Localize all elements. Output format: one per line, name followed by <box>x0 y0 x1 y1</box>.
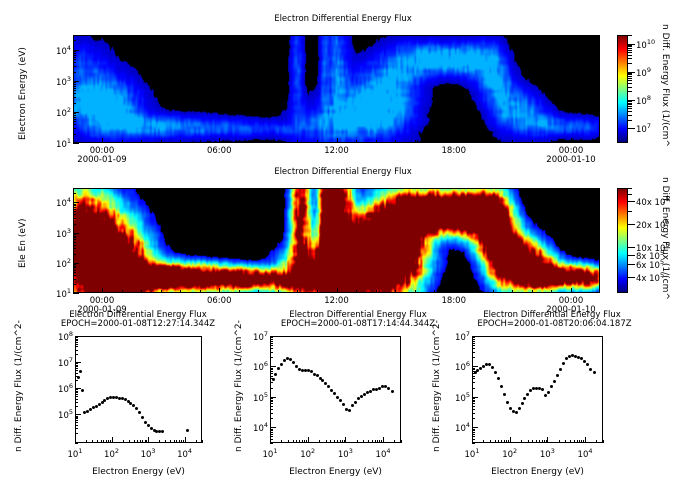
y-minor-tick <box>75 373 78 374</box>
x-minor-tick <box>319 440 320 443</box>
y-minor-tick <box>472 418 475 419</box>
y-minor-tick <box>73 266 76 267</box>
colorbar-minor-tick <box>628 48 632 49</box>
x-minor-tick <box>288 440 289 443</box>
colorbar-tick-label: 107 <box>636 122 651 135</box>
y-minor-tick <box>75 350 78 351</box>
x-minor-tick <box>134 440 135 443</box>
y-minor-tick <box>75 420 78 421</box>
y-minor-tick <box>472 343 475 344</box>
data-point <box>336 396 339 399</box>
colorbar-minor-tick <box>628 106 632 107</box>
y-minor-tick <box>73 279 76 280</box>
y-minor-tick <box>75 365 78 366</box>
colorbar-minor-tick <box>628 111 632 112</box>
panel-middle-ylabel: Ele En (eV) <box>18 218 28 268</box>
y-minor-tick <box>75 402 78 403</box>
y-minor-tick <box>73 88 76 89</box>
y-minor-tick <box>472 376 475 377</box>
x-minor-tick <box>110 440 111 443</box>
x-minor-tick <box>340 440 341 443</box>
x-minor-tick <box>137 440 138 443</box>
x-minor-tick <box>483 440 484 443</box>
x-tick-mark <box>510 437 511 443</box>
y-minor-tick <box>75 354 78 355</box>
y-minor-tick <box>472 348 475 349</box>
data-point <box>562 362 565 365</box>
y-minor-tick <box>472 368 475 369</box>
panel-middle-title: Electron Differential Energy Flux <box>153 167 533 177</box>
data-point <box>280 363 283 366</box>
data-point <box>391 390 394 393</box>
x-minor-tick <box>532 440 533 443</box>
x-tick-label: 102 <box>496 447 524 460</box>
y-minor-tick <box>472 398 475 399</box>
y-minor-tick <box>472 382 475 383</box>
x-minor-tick <box>337 440 338 443</box>
data-point <box>333 392 336 395</box>
y-tick-label: 105 <box>448 391 470 404</box>
y-minor-tick <box>73 236 76 237</box>
data-point <box>559 368 562 371</box>
colorbar-minor-tick <box>628 108 632 109</box>
x-minor-tick <box>170 440 171 443</box>
data-point <box>494 371 497 374</box>
y-tick-label: 102 <box>49 106 71 119</box>
data-point <box>135 407 138 410</box>
y-minor-tick <box>73 239 76 240</box>
x-minor-tick <box>108 440 109 443</box>
x-tick-mark <box>547 437 548 443</box>
x-minor-tick <box>337 140 338 143</box>
data-point <box>81 389 84 392</box>
colorbar-tick-mark <box>628 247 635 248</box>
x-tick-mark <box>585 437 586 443</box>
y-minor-tick <box>75 428 78 429</box>
y-tick-label: 106 <box>246 360 268 373</box>
x-minor-tick <box>356 290 357 293</box>
colorbar-minor-tick <box>628 35 632 36</box>
x-tick-label: 104 <box>571 447 599 460</box>
x-minor-tick <box>161 290 162 293</box>
colorbar-minor-tick <box>628 194 632 195</box>
panel-spectrum-1-xlabel: Electron Energy (eV) <box>75 467 202 477</box>
y-minor-tick <box>270 432 273 433</box>
colorbar-minor-tick <box>628 83 632 84</box>
y-minor-tick <box>472 388 475 389</box>
colorbar-tick-mark <box>628 264 635 265</box>
y-minor-tick <box>73 205 76 206</box>
y-minor-tick <box>73 103 76 104</box>
colorbar-tick-mark <box>628 277 635 278</box>
x-minor-tick <box>159 440 160 443</box>
colorbar-minor-tick <box>628 104 632 105</box>
x-minor-tick <box>368 440 369 443</box>
y-minor-tick <box>75 416 78 417</box>
data-point <box>586 363 589 366</box>
x-minor-tick <box>571 140 572 143</box>
y-minor-tick <box>472 339 475 340</box>
x-minor-tick <box>122 140 123 143</box>
x-minor-tick <box>559 440 560 443</box>
x-minor-tick <box>356 140 357 143</box>
y-minor-tick <box>75 418 78 419</box>
x-minor-tick <box>394 440 395 443</box>
y-minor-tick <box>472 406 475 407</box>
y-minor-tick <box>75 339 78 340</box>
y-minor-tick <box>75 337 78 338</box>
y-minor-tick <box>73 193 76 194</box>
x-minor-tick <box>334 440 335 443</box>
y-minor-tick <box>270 398 273 399</box>
y-minor-tick <box>75 363 78 364</box>
data-point <box>556 374 559 377</box>
x-minor-tick <box>181 440 182 443</box>
y-minor-tick <box>73 267 76 268</box>
data-point <box>354 401 357 404</box>
x-tick-mark <box>383 437 384 443</box>
panel-top-title: Electron Differential Energy Flux <box>153 14 533 24</box>
y-minor-tick <box>75 346 78 347</box>
y-minor-tick <box>270 348 273 349</box>
y-minor-tick <box>270 341 273 342</box>
panel-spectrum-2-plot[interactable] <box>270 336 401 443</box>
data-point <box>541 388 544 391</box>
y-minor-tick <box>73 214 76 215</box>
x-minor-tick <box>532 290 533 293</box>
x-minor-tick <box>536 440 537 443</box>
x-minor-tick <box>579 440 580 443</box>
panel-top-plot[interactable] <box>73 35 600 143</box>
x-minor-tick <box>293 440 294 443</box>
x-minor-tick <box>101 440 102 443</box>
x-tick-label: 104 <box>369 447 397 460</box>
x-minor-tick <box>281 440 282 443</box>
y-minor-tick <box>270 403 273 404</box>
y-minor-tick <box>270 343 273 344</box>
y-minor-tick <box>73 53 76 54</box>
y-minor-tick <box>73 134 76 135</box>
x-minor-tick <box>344 440 345 443</box>
panel-middle-colorbar[interactable] <box>617 188 628 293</box>
colorbar-minor-tick <box>628 45 632 46</box>
colorbar-minor-tick <box>628 55 632 56</box>
y-minor-tick <box>75 392 78 393</box>
y-tick-label: 108 <box>51 330 73 343</box>
x-minor-tick <box>544 440 545 443</box>
y-minor-tick <box>73 124 76 125</box>
y-minor-tick <box>472 434 475 435</box>
y-minor-tick <box>472 430 475 431</box>
x-minor-tick <box>278 140 279 143</box>
panel-middle-colorbar-label: n Diff. Energy Flux (1/(cm^ <box>660 177 670 300</box>
x-minor-tick <box>473 290 474 293</box>
data-point <box>277 367 280 370</box>
x-minor-tick <box>219 140 220 143</box>
y-minor-tick <box>73 84 76 85</box>
y-minor-tick <box>472 409 475 410</box>
y-tick-label: 106 <box>51 382 73 395</box>
x-minor-tick <box>296 440 297 443</box>
y-minor-tick <box>75 443 78 444</box>
y-minor-tick <box>73 72 76 73</box>
x-minor-tick <box>375 440 376 443</box>
x-minor-tick <box>570 440 571 443</box>
y-minor-tick <box>270 443 273 444</box>
x-minor-tick <box>302 440 303 443</box>
data-point <box>141 416 144 419</box>
x-minor-tick <box>179 440 180 443</box>
x-minor-tick <box>92 440 93 443</box>
colorbar-minor-tick <box>628 115 632 116</box>
y-minor-tick <box>73 57 76 58</box>
x-tick-mark <box>345 437 346 443</box>
y-minor-tick <box>75 370 78 371</box>
data-point <box>500 385 503 388</box>
data-point <box>348 409 351 412</box>
y-tick-mark <box>73 293 79 294</box>
x-minor-tick <box>490 440 491 443</box>
y-tick-label: 107 <box>51 356 73 369</box>
data-point <box>550 385 553 388</box>
data-point <box>342 403 345 406</box>
y-minor-tick <box>472 371 475 372</box>
x-tick-label: 101 <box>458 447 486 460</box>
x-minor-tick <box>102 140 103 143</box>
y-minor-tick <box>73 209 76 210</box>
x-minor-tick <box>102 290 103 293</box>
x-minor-tick <box>86 440 87 443</box>
x-minor-tick <box>415 140 416 143</box>
x-minor-tick <box>342 440 343 443</box>
x-minor-tick <box>583 440 584 443</box>
colorbar-tick-mark <box>628 128 635 129</box>
y-minor-tick <box>75 380 78 381</box>
panel-spectrum-2-xlabel: Electron Energy (eV) <box>270 467 401 477</box>
y-minor-tick <box>75 342 78 343</box>
x-minor-tick <box>571 290 572 293</box>
panel-spectrum-3-xlabel: Electron Energy (eV) <box>472 467 603 477</box>
y-minor-tick <box>73 97 76 98</box>
x-minor-tick <box>577 440 578 443</box>
y-tick-label: 102 <box>49 257 71 270</box>
data-point <box>79 370 82 373</box>
x-minor-tick <box>337 290 338 293</box>
y-minor-tick <box>75 396 78 397</box>
panel-spectrum-3-plot[interactable] <box>472 336 603 443</box>
x-tick-mark <box>112 437 113 443</box>
colorbar-minor-tick <box>628 63 632 64</box>
y-minor-tick <box>73 188 76 189</box>
x-minor-tick <box>532 140 533 143</box>
y-tick-label: 107 <box>246 330 268 343</box>
data-point <box>161 430 164 433</box>
y-minor-tick <box>270 406 273 407</box>
y-minor-tick <box>75 340 78 341</box>
y-minor-tick <box>472 401 475 402</box>
x-minor-tick <box>306 440 307 443</box>
panel-top-ylabel: Electron Energy (eV) <box>18 47 28 140</box>
y-minor-tick <box>75 406 78 407</box>
y-minor-tick <box>73 40 76 41</box>
x-minor-tick <box>504 440 505 443</box>
y-minor-tick <box>73 55 76 56</box>
data-point <box>144 421 147 424</box>
y-minor-tick <box>472 341 475 342</box>
data-point <box>553 380 556 383</box>
data-point <box>339 399 342 402</box>
y-tick-label: 103 <box>49 75 71 88</box>
x-minor-tick <box>183 440 184 443</box>
x-minor-tick <box>493 140 494 143</box>
x-minor-tick <box>258 290 259 293</box>
y-minor-tick <box>270 430 273 431</box>
y-tick-label: 105 <box>246 391 268 404</box>
x-tick-label: 101 <box>61 447 89 460</box>
y-minor-tick <box>75 425 78 426</box>
y-minor-tick <box>270 409 273 410</box>
x-time-label: 06:00 <box>199 146 239 156</box>
y-tick-label: 105 <box>51 408 73 421</box>
x-tick-mark <box>308 437 309 443</box>
y-minor-tick <box>472 369 475 370</box>
x-minor-tick <box>376 140 377 143</box>
y-minor-tick <box>73 248 76 249</box>
x-minor-tick <box>506 440 507 443</box>
y-minor-tick <box>270 400 273 401</box>
x-minor-tick <box>176 440 177 443</box>
y-minor-tick <box>75 366 78 367</box>
y-minor-tick <box>270 368 273 369</box>
y-minor-tick <box>73 218 76 219</box>
x-minor-tick <box>142 440 143 443</box>
colorbar-tick-label: 1010 <box>636 38 655 51</box>
y-tick-label: 107 <box>448 330 470 343</box>
y-minor-tick <box>472 432 475 433</box>
colorbar-minor-tick <box>628 224 632 225</box>
x-minor-tick <box>454 140 455 143</box>
y-minor-tick <box>270 373 273 374</box>
y-minor-tick <box>472 413 475 414</box>
data-point <box>387 387 390 390</box>
y-tick-label: 101 <box>49 287 71 300</box>
y-minor-tick <box>472 429 475 430</box>
y-tick-label: 103 <box>49 227 71 240</box>
y-minor-tick <box>73 245 76 246</box>
colorbar-minor-tick <box>628 120 632 121</box>
colorbar-minor-tick <box>628 103 632 104</box>
y-minor-tick <box>472 373 475 374</box>
y-minor-tick <box>75 389 78 390</box>
panel-spectrum-1-plot[interactable] <box>75 336 202 443</box>
colorbar-minor-tick <box>628 50 632 51</box>
x-tick-mark <box>472 437 473 443</box>
x-minor-tick <box>495 440 496 443</box>
x-tick-label: 103 <box>134 447 162 460</box>
y-minor-tick <box>73 113 76 114</box>
colorbar-minor-tick <box>628 80 632 81</box>
x-minor-tick <box>97 440 98 443</box>
data-point <box>583 360 586 363</box>
y-minor-tick <box>73 121 76 122</box>
data-point <box>518 407 521 410</box>
colorbar-minor-tick <box>628 73 632 74</box>
data-point <box>593 371 596 374</box>
data-point <box>509 407 512 410</box>
panel-top-colorbar[interactable] <box>617 35 628 143</box>
x-tick-label: 101 <box>256 447 284 460</box>
x-minor-tick <box>546 440 547 443</box>
x-minor-tick <box>521 440 522 443</box>
data-point <box>186 429 189 432</box>
x-tick-label: 102 <box>294 447 322 460</box>
y-minor-tick <box>472 345 475 346</box>
data-point <box>503 393 506 396</box>
x-minor-tick <box>161 140 162 143</box>
data-point <box>589 368 592 371</box>
x-minor-tick <box>200 140 201 143</box>
data-point <box>138 411 141 414</box>
x-minor-tick <box>434 290 435 293</box>
x-tick-label: 104 <box>171 447 199 460</box>
y-minor-tick <box>73 86 76 87</box>
y-minor-tick <box>472 403 475 404</box>
x-tick-mark <box>185 437 186 443</box>
x-minor-tick <box>596 440 597 443</box>
panel-spectrum-1-ylabel: n Diff. Energy Flux (1/(cm^2- <box>14 320 24 452</box>
y-minor-tick <box>73 93 76 94</box>
x-tick-label: 103 <box>533 447 561 460</box>
y-minor-tick <box>75 417 78 418</box>
x-minor-tick <box>376 290 377 293</box>
x-minor-tick <box>372 440 373 443</box>
x-minor-tick <box>141 140 142 143</box>
data-point <box>327 385 330 388</box>
panel-middle-plot[interactable] <box>73 188 600 293</box>
x-minor-tick <box>123 440 124 443</box>
x-minor-tick <box>401 440 402 443</box>
x-minor-tick <box>317 290 318 293</box>
x-minor-tick <box>129 440 130 443</box>
data-point <box>497 377 500 380</box>
colorbar-minor-tick <box>628 78 632 79</box>
x-minor-tick <box>551 140 552 143</box>
x-minor-tick <box>473 140 474 143</box>
y-minor-tick <box>73 115 76 116</box>
colorbar-minor-tick <box>628 74 632 75</box>
y-tick-mark <box>73 143 79 144</box>
y-minor-tick <box>270 376 273 377</box>
x-minor-tick <box>363 440 364 443</box>
data-point <box>491 366 494 369</box>
x-minor-tick <box>434 140 435 143</box>
x-tick-label: 103 <box>331 447 359 460</box>
y-tick-label: 104 <box>448 421 470 434</box>
x-minor-tick <box>106 440 107 443</box>
x-time-label: 12:00 <box>317 146 357 156</box>
x-minor-tick <box>395 290 396 293</box>
x-minor-tick <box>180 140 181 143</box>
panel-spectrum-3-subtitle: EPOCH=2000-01-08T20:06:04.187Z <box>447 319 662 329</box>
x-minor-tick <box>379 440 380 443</box>
y-minor-tick <box>472 357 475 358</box>
x-time-label: 06:00 <box>199 296 239 306</box>
y-minor-tick <box>270 388 273 389</box>
data-point <box>98 403 101 406</box>
y-minor-tick <box>270 357 273 358</box>
x-minor-tick <box>542 440 543 443</box>
x-minor-tick <box>180 290 181 293</box>
